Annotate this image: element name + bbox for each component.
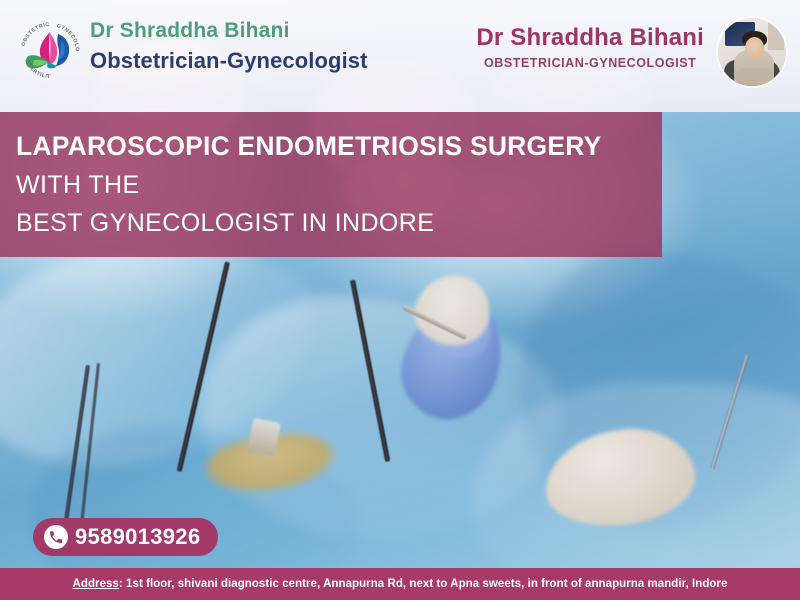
- doctor-name-right: Dr Shraddha Bihani: [476, 24, 704, 53]
- address-label: Address: [73, 578, 119, 590]
- address-bar: Address: 1st floor, shivani diagnostic c…: [0, 568, 800, 600]
- headline-line-3: BEST GYNECOLOGIST IN INDORE: [16, 209, 662, 237]
- poster: OBSTETRICS GYNECOLOGY INFERTILITY Dr Shr…: [0, 0, 800, 600]
- avatar-scarf: [737, 68, 771, 84]
- avatar: [718, 18, 786, 86]
- brand-left: Dr Shraddha Bihani Obstetrician-Gynecolo…: [90, 18, 368, 76]
- address-separator: :: [119, 578, 126, 590]
- phone-number: 9589013926: [75, 526, 200, 548]
- address-text: Address: 1st floor, shivani diagnostic c…: [73, 578, 728, 590]
- address-value: 1st floor, shivani diagnostic centre, An…: [126, 578, 727, 590]
- doctor-name-left: Dr Shraddha Bihani: [90, 18, 368, 44]
- headline-banner: LAPAROSCOPIC ENDOMETRIOSIS SURGERY WITH …: [0, 112, 662, 257]
- doctor-specialty-right: OBSTETRICIAN-GYNECOLOGIST: [476, 56, 704, 70]
- header-bar: OBSTETRICS GYNECOLOGY INFERTILITY Dr Shr…: [0, 0, 800, 112]
- headline-line-1: LAPAROSCOPIC ENDOMETRIOSIS SURGERY: [16, 132, 662, 162]
- doctor-specialty-left: Obstetrician-Gynecologist: [90, 47, 368, 76]
- clinic-logo-mark: OBSTETRICS GYNECOLOGY INFERTILITY: [14, 16, 86, 88]
- headline-line-2: WITH THE: [16, 171, 662, 199]
- avatar-face: [745, 37, 764, 59]
- clinic-logo[interactable]: OBSTETRICS GYNECOLOGY INFERTILITY: [14, 16, 86, 88]
- avatar-wall-panel: [768, 20, 784, 50]
- phone-icon: [44, 525, 68, 549]
- phone-badge[interactable]: 9589013926: [33, 518, 218, 556]
- brand-right: Dr Shraddha Bihani OBSTETRICIAN-GYNECOLO…: [476, 24, 704, 70]
